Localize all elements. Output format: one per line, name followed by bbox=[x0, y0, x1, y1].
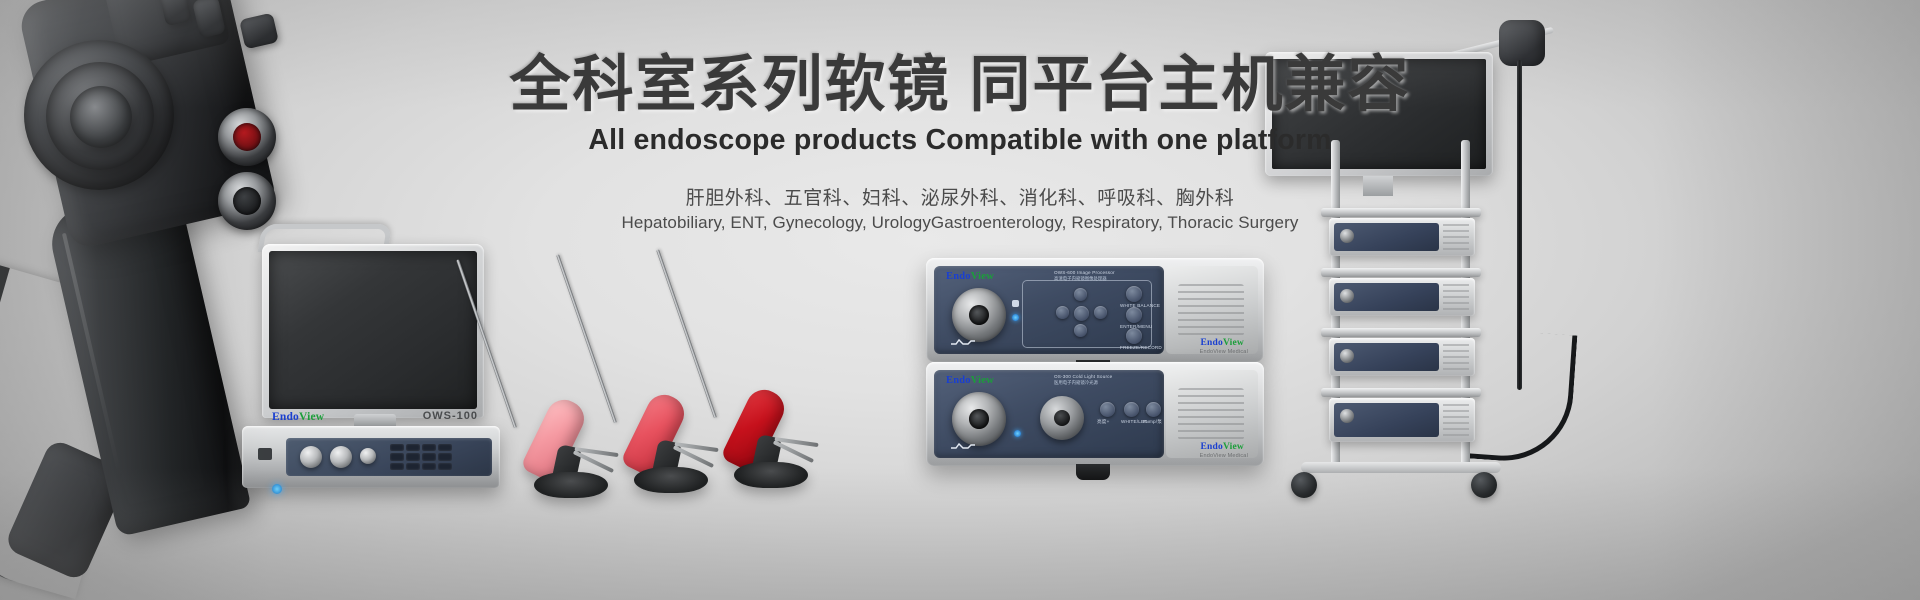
cart-shelf-4 bbox=[1321, 388, 1481, 397]
processor-front-panel: EndoView OWS-600 Image Processor 高清电子内窥镜… bbox=[934, 266, 1164, 354]
status-led-blue bbox=[1014, 430, 1021, 437]
keypad-key bbox=[406, 444, 420, 451]
power-led bbox=[272, 484, 282, 494]
panel-title-cn: 高清电子内窥镜图像处理器 bbox=[1054, 276, 1107, 282]
cart-base bbox=[1301, 462, 1501, 473]
light-guide-port bbox=[952, 392, 1006, 446]
keypad-key bbox=[438, 444, 452, 451]
device-front-panel bbox=[1334, 403, 1439, 437]
device-front-panel bbox=[1334, 283, 1439, 311]
status-led-blue bbox=[1012, 314, 1019, 321]
brand-text-endo: Endo bbox=[1201, 338, 1223, 348]
light-source-front-panel: EndoView OS-300 Cold Light Source 医用电子内窥… bbox=[934, 370, 1164, 458]
department-list: 肝胆外科、五官科、妇科、泌尿外科、消化科、呼吸科、胸外科 Hepatobilia… bbox=[0, 183, 1920, 233]
cart-scope-cable-loop bbox=[1469, 329, 1578, 466]
brand-logo: EndoView bbox=[946, 376, 994, 387]
keypad-key bbox=[390, 444, 404, 451]
panel-keypad bbox=[390, 444, 452, 470]
scope-stand bbox=[534, 472, 608, 498]
monitor-camera-unit: EndoView OWS-100 bbox=[236, 232, 506, 490]
brand-text-view: View bbox=[971, 271, 994, 282]
waveform-icon bbox=[950, 442, 976, 450]
cart-device-3 bbox=[1329, 338, 1475, 376]
pump-button[interactable] bbox=[1146, 402, 1161, 417]
scope-stand bbox=[734, 462, 808, 488]
front-port bbox=[258, 448, 272, 460]
unit-foot bbox=[1076, 464, 1110, 480]
headline-english: All endoscope products Compatible with o… bbox=[0, 124, 1920, 157]
brand-logo: EndoView bbox=[272, 412, 324, 424]
brand-logo: EndoView bbox=[946, 272, 994, 283]
cart-shelf-2 bbox=[1321, 268, 1481, 277]
white-led-button[interactable] bbox=[1124, 402, 1139, 417]
keypad-key bbox=[406, 453, 420, 460]
brand-logo-right: EndoView bbox=[1201, 339, 1245, 349]
departments-english: Hepatobiliary, ENT, Gynecology, UrologyG… bbox=[0, 213, 1920, 233]
rigid-endoscope-red bbox=[700, 240, 870, 500]
brand-text-view: View bbox=[299, 411, 324, 423]
unit-right-side: EndoView EndoView Medical bbox=[1166, 370, 1258, 458]
camera-coupler-port bbox=[952, 288, 1006, 342]
panel-dial-2 bbox=[330, 446, 352, 468]
nav-right-button[interactable] bbox=[1094, 306, 1107, 319]
cart-shelf-3 bbox=[1321, 328, 1481, 337]
panel-title-en: OS-300 Cold Light Source bbox=[1054, 374, 1112, 379]
monitor-bezel bbox=[262, 244, 484, 418]
image-processor-unit: EndoView OWS-600 Image Processor 高清电子内窥镜… bbox=[926, 258, 1264, 362]
brand-text-view: View bbox=[971, 375, 994, 386]
brand-text-endo: Endo bbox=[946, 375, 971, 386]
keypad-key bbox=[406, 463, 420, 470]
cart-wheel-left bbox=[1291, 472, 1317, 498]
brand-sub-label: EndoView Medical bbox=[1200, 453, 1248, 459]
keypad-key bbox=[422, 453, 436, 460]
departments-chinese: 肝胆外科、五官科、妇科、泌尿外科、消化科、呼吸科、胸外科 bbox=[0, 183, 1920, 210]
model-label: OWS-100 bbox=[423, 410, 478, 422]
brand-text-endo: Endo bbox=[272, 411, 299, 423]
white-balance-label: WHITE BALANCE bbox=[1120, 303, 1160, 308]
panel-dial-3 bbox=[360, 448, 376, 464]
brand-text-endo: Endo bbox=[1201, 442, 1223, 452]
brand-text-view: View bbox=[1223, 442, 1244, 452]
keypad-key bbox=[390, 463, 404, 470]
nav-down-button[interactable] bbox=[1074, 324, 1087, 337]
keypad-key bbox=[422, 444, 436, 451]
nav-menu-button[interactable] bbox=[1074, 306, 1089, 321]
panel-title-en: OWS-600 Image Processor bbox=[1054, 270, 1115, 275]
panel-title-cn: 医用电子内窥镜冷光源 bbox=[1054, 380, 1098, 386]
device-vent bbox=[1443, 404, 1469, 436]
panel-dial-1 bbox=[300, 446, 322, 468]
pump-label: Pump/泵 bbox=[1143, 419, 1162, 425]
scope-stand bbox=[634, 467, 708, 493]
nav-up-button[interactable] bbox=[1074, 288, 1087, 301]
cart-device-2 bbox=[1329, 278, 1475, 316]
white-balance-button[interactable] bbox=[1126, 286, 1142, 302]
brightness-knob[interactable] bbox=[1040, 396, 1084, 440]
waveform-icon bbox=[950, 338, 976, 346]
enter-menu-button[interactable] bbox=[1126, 307, 1142, 323]
brand-sub-label: EndoView Medical bbox=[1200, 349, 1248, 355]
headline-chinese: 全科室系列软镜 同平台主机兼容 bbox=[0, 52, 1920, 118]
ventilation-grille bbox=[1178, 388, 1244, 440]
brightness-label: 亮度+ bbox=[1097, 419, 1109, 425]
device-vent bbox=[1443, 344, 1469, 370]
unit-base: EndoView OWS-100 bbox=[242, 426, 500, 488]
keypad-key bbox=[438, 453, 452, 460]
port-icon bbox=[1012, 300, 1019, 307]
brand-logo-right: EndoView bbox=[1201, 443, 1245, 453]
keypad-key bbox=[422, 463, 436, 470]
banner-text-block: 全科室系列软镜 同平台主机兼容 All endoscope products C… bbox=[0, 52, 1920, 233]
cart-device-4 bbox=[1329, 398, 1475, 442]
endoscope-button-3 bbox=[239, 13, 279, 50]
cart-wheel-right bbox=[1471, 472, 1497, 498]
light-source-unit: EndoView OS-300 Cold Light Source 医用电子内窥… bbox=[926, 362, 1264, 466]
keypad-key bbox=[438, 463, 452, 470]
device-vent bbox=[1443, 284, 1469, 310]
unit-right-side: EndoView EndoView Medical bbox=[1166, 266, 1258, 354]
brand-text-view: View bbox=[1223, 338, 1244, 348]
monitor-display bbox=[269, 251, 477, 409]
nav-left-button[interactable] bbox=[1056, 306, 1069, 319]
enter-menu-label: ENTER/MENU bbox=[1120, 324, 1152, 329]
ventilation-grille bbox=[1178, 284, 1244, 336]
brightness-up-button[interactable] bbox=[1100, 402, 1115, 417]
freeze-record-label: FREEZE/RECORD bbox=[1120, 345, 1162, 350]
device-front-panel bbox=[1334, 343, 1439, 371]
freeze-record-button[interactable] bbox=[1126, 328, 1142, 344]
brand-text-endo: Endo bbox=[946, 271, 971, 282]
keypad-key bbox=[390, 453, 404, 460]
promo-banner: EndoView OWS-100 bbox=[0, 0, 1920, 600]
